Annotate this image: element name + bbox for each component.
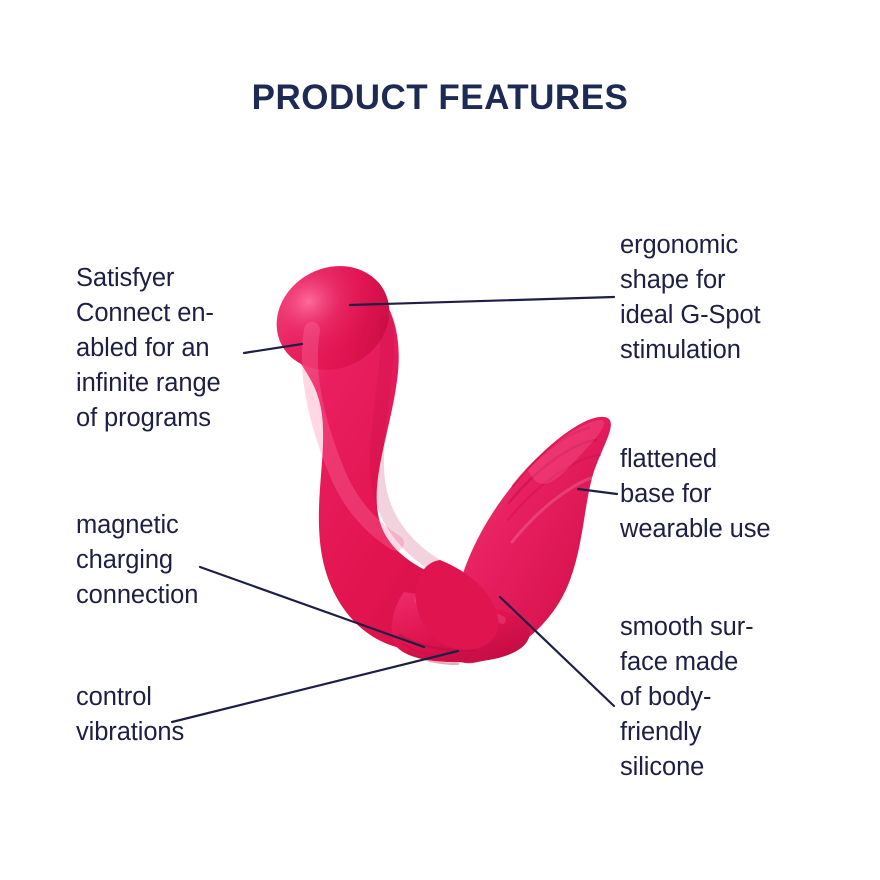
feature-label-magnetic: magnetic charging connection <box>76 508 311 613</box>
product-features-infographic: PRODUCT FEATURES <box>0 0 880 880</box>
feature-label-control: control vibrations <box>76 680 311 750</box>
feature-label-smooth: smooth sur- face made of body- friendly … <box>620 610 845 785</box>
feature-label-flattened: flattened base for wearable use <box>620 442 845 547</box>
feature-label-ergonomic: ergonomic shape for ideal G-Spot stimula… <box>620 228 845 368</box>
feature-label-connect: Satisfyer Connect en- abled for an infin… <box>76 261 311 436</box>
